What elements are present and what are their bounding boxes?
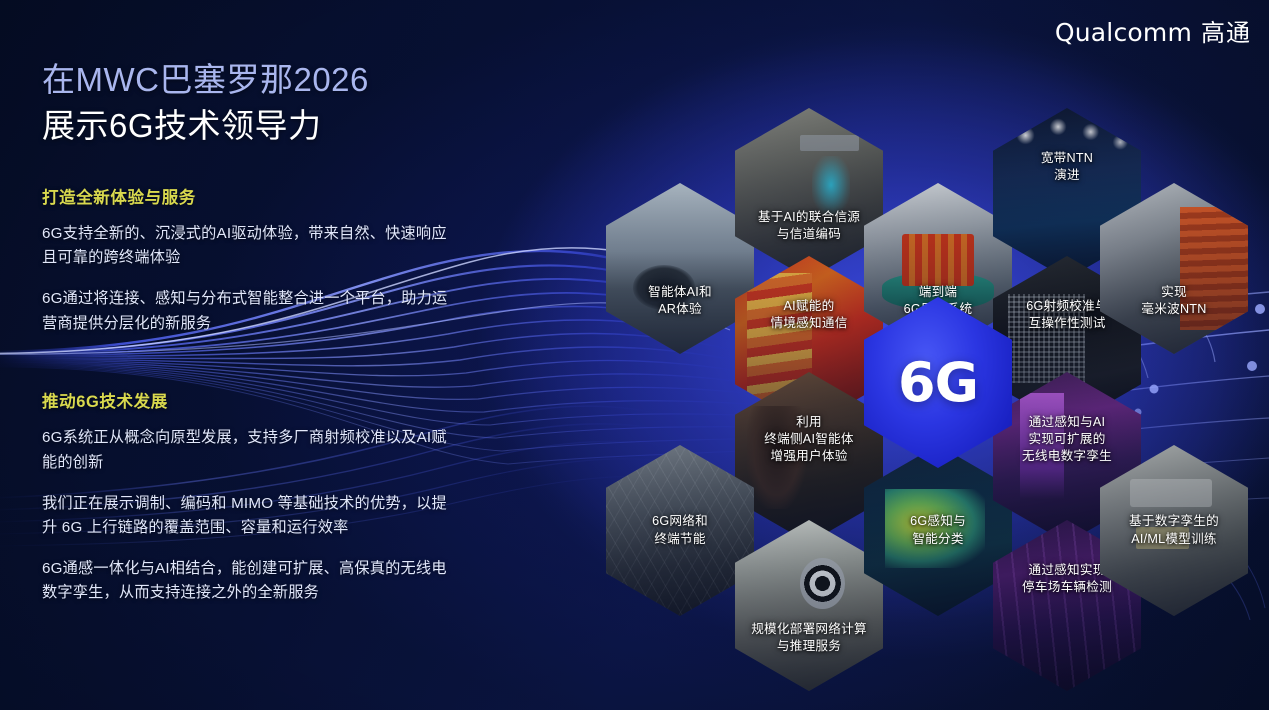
section-1-paragraph-1: 6G支持全新的、沉浸式的AI驱动体验，带来自然、快速响应且可靠的跨终端体验 bbox=[42, 222, 462, 271]
section-2-paragraph-1: 6G系统正从概念向原型发展，支持多厂商射频校准以及AI赋能的创新 bbox=[42, 426, 462, 475]
page-title: 在MWC巴塞罗那2026 展示6G技术领导力 bbox=[42, 58, 462, 148]
hex-label-ai-context-aware-comm: AI赋能的 情境感知通信 bbox=[761, 298, 856, 332]
hex-label-agentic-ai-ar: 智能体AI和 AR体验 bbox=[639, 284, 721, 318]
section-experiences-services: 打造全新体验与服务 6G支持全新的、沉浸式的AI驱动体验，带来自然、快速响应且可… bbox=[42, 184, 462, 337]
hex-tile-agentic-ai-ar[interactable]: 智能体AI和 AR体验 bbox=[606, 183, 754, 354]
qualcomm-logo: Qualcomm 高通 bbox=[1055, 13, 1251, 48]
hex-label-digital-twin-ai-ml-training: 基于数字孪生的 AI/ML模型训练 bbox=[1120, 513, 1228, 547]
left-content-column: 在MWC巴塞罗那2026 展示6G技术领导力 打造全新体验与服务 6G支持全新的… bbox=[42, 58, 462, 606]
section-2-paragraph-2: 我们正在展示调制、编码和 MIMO 等基础技术的优势，以提升 6G 上行链路的覆… bbox=[42, 492, 462, 541]
section-1-paragraph-2: 6G通过将连接、感知与分布式智能整合进一个平台，助力运营商提供分层化的新服务 bbox=[42, 287, 462, 336]
hex-tile-6g-network-device-energy[interactable]: 6G网络和 终端节能 bbox=[606, 445, 754, 616]
hex-tile-scale-network-compute-inference[interactable]: 规模化部署网络计算 与推理服务 bbox=[735, 520, 883, 691]
logo-wordmark: Qualcomm bbox=[1055, 18, 1192, 47]
hex-tile-6g-sensing-classification[interactable]: 6G感知与 智能分类 bbox=[864, 445, 1012, 616]
title-line-2: 展示6G技术领导力 bbox=[42, 104, 462, 148]
hex-label-broadband-ntn: 宽带NTN 演进 bbox=[1032, 150, 1102, 184]
hex-label-device-ai-agent-ux: 利用 终端侧AI智能体 增强用户体验 bbox=[755, 414, 862, 465]
hex-overlay-tint bbox=[735, 520, 883, 691]
hex-label-scale-network-compute-inference: 规模化部署网络计算 与推理服务 bbox=[742, 621, 876, 655]
logo-chinese: 高通 bbox=[1201, 13, 1251, 48]
hex-label-scalable-radio-digital-twin: 通过感知与AI 实现可扩展的 无线电数字孪生 bbox=[1013, 414, 1121, 465]
hex-tile-ai-joint-source-channel-coding[interactable]: 基于AI的联合信源 与信道编码 bbox=[735, 108, 883, 279]
section-1-heading: 打造全新体验与服务 bbox=[42, 184, 462, 208]
section-advancing-6g: 推动6G技术发展 6G系统正从概念向原型发展，支持多厂商射频校准以及AI赋能的创… bbox=[42, 388, 462, 606]
hex-label-mmwave-ntn: 实现 毫米波NTN bbox=[1132, 284, 1215, 318]
hex-label-ai-joint-source-channel-coding: 基于AI的联合信源 与信道编码 bbox=[749, 209, 869, 243]
hex-overlay-tint bbox=[606, 183, 754, 354]
title-line-1: 在MWC巴塞罗那2026 bbox=[42, 58, 462, 102]
hex-label-6g-sensing-classification: 6G感知与 智能分类 bbox=[901, 513, 975, 547]
hex-overlay-tint bbox=[735, 108, 883, 279]
hex-label-6g-network-device-energy: 6G网络和 终端节能 bbox=[643, 513, 717, 547]
hex-tile-device-ai-agent-ux[interactable]: 利用 终端侧AI智能体 增强用户体验 bbox=[735, 372, 883, 543]
section-2-paragraph-3: 6G通感一体化与AI相结合，能创建可扩展、高保真的无线电数字孪生，从而支持连接之… bbox=[42, 557, 462, 606]
hex-center-label: 6G bbox=[898, 351, 978, 414]
section-2-heading: 推动6G技术发展 bbox=[42, 388, 462, 412]
